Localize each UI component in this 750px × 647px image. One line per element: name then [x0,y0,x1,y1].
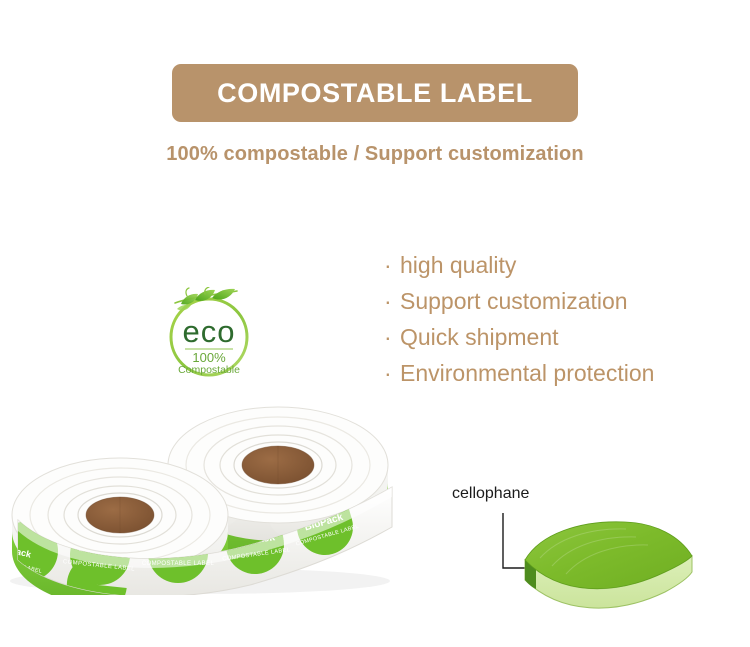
label-roll-product-photo: BioPack COMPOSTABLE LABEL BioPack COMPOS… [0,355,420,595]
feature-item: · Support customization [384,283,714,319]
callout-leader-line [503,513,528,568]
feature-label: Environmental protection [400,355,714,391]
feature-label: Support customization [400,283,714,319]
cellophane-diagram [440,500,740,620]
feature-label: Quick shipment [400,319,714,355]
bullet-icon: · [384,283,400,319]
eco-wordmark: eco [183,314,236,349]
feature-item: · Environmental protection [384,355,714,391]
bullet-icon: · [384,319,400,355]
page-title: COMPOSTABLE LABEL [217,78,533,109]
page-subtitle: 100% compostable / Support customization [0,143,750,166]
feature-list: · high quality · Support customization ·… [384,247,714,391]
feature-label: high quality [400,247,714,283]
feature-item: · Quick shipment [384,319,714,355]
feature-item: · high quality [384,247,714,283]
page-title-banner: COMPOSTABLE LABEL [172,64,578,122]
bullet-icon: · [384,247,400,283]
